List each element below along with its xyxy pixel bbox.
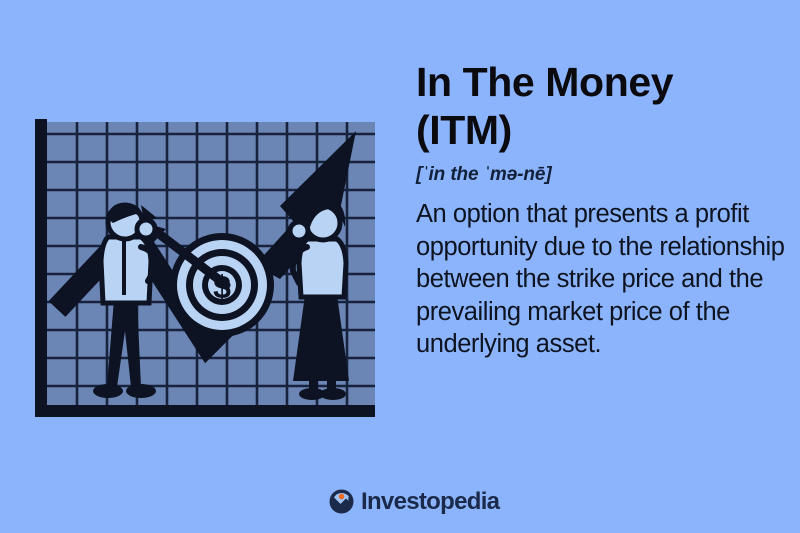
investopedia-logo: Investopedia xyxy=(329,489,499,514)
infographic-page: $ xyxy=(0,0,800,533)
page-title: In The Money (ITM) xyxy=(416,58,788,154)
brand-name: Investopedia xyxy=(361,489,499,514)
person-woman-figure xyxy=(290,199,349,400)
chart-x-axis xyxy=(35,405,375,417)
chart-y-axis xyxy=(35,119,47,411)
definition-text-column: In The Money (ITM) [ˈin the ˈmə-nē] An o… xyxy=(416,58,788,361)
definition-text: An option that presents a profit opportu… xyxy=(416,198,788,361)
investopedia-logo-icon xyxy=(329,489,354,514)
stock-chart-illustration: $ xyxy=(33,119,381,419)
pronunciation-text: [ˈin the ˈmə-nē] xyxy=(416,164,788,186)
